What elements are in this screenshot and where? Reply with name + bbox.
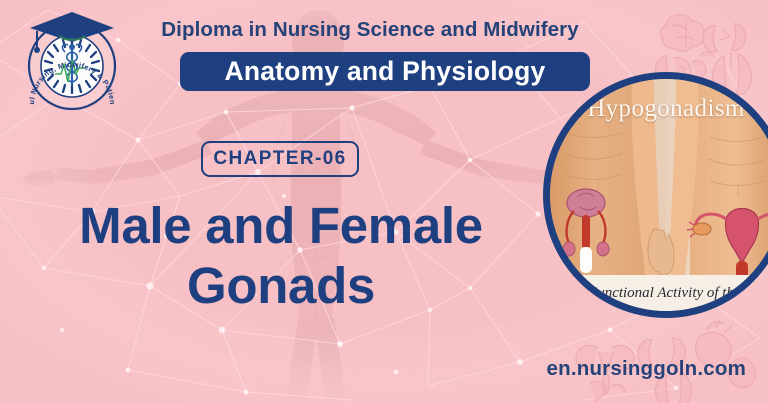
chapter-badge: CHAPTER-06: [201, 141, 359, 177]
chapter-label: CHAPTER-06: [213, 148, 346, 170]
image-caption-top: Hypogonadism: [550, 95, 768, 123]
page-title-line-2: Gonads: [16, 256, 546, 316]
course-banner: Gurukul Nursing, Midwifery & Patient Car…: [0, 0, 768, 403]
website-url[interactable]: en.nursinggoln.com: [547, 357, 747, 381]
topic-image-circle: Hypogonadism d Functional Activity of th…: [543, 72, 768, 318]
topic-image: Hypogonadism d Functional Activity of th…: [550, 79, 768, 311]
page-title: Male and Female Gonads: [16, 196, 546, 316]
subject-badge: Anatomy and Physiology: [180, 52, 590, 91]
page-title-line-1: Male and Female: [16, 196, 546, 256]
subject-label: Anatomy and Physiology: [225, 56, 546, 87]
gurukul-nursing-logo: Gurukul Nursing, Midwifery & Patient Car…: [19, 8, 125, 120]
image-caption-bottom: d Functional Activity of the G: [550, 285, 768, 302]
program-title: Diploma in Nursing Science and Midwifery: [130, 18, 610, 42]
